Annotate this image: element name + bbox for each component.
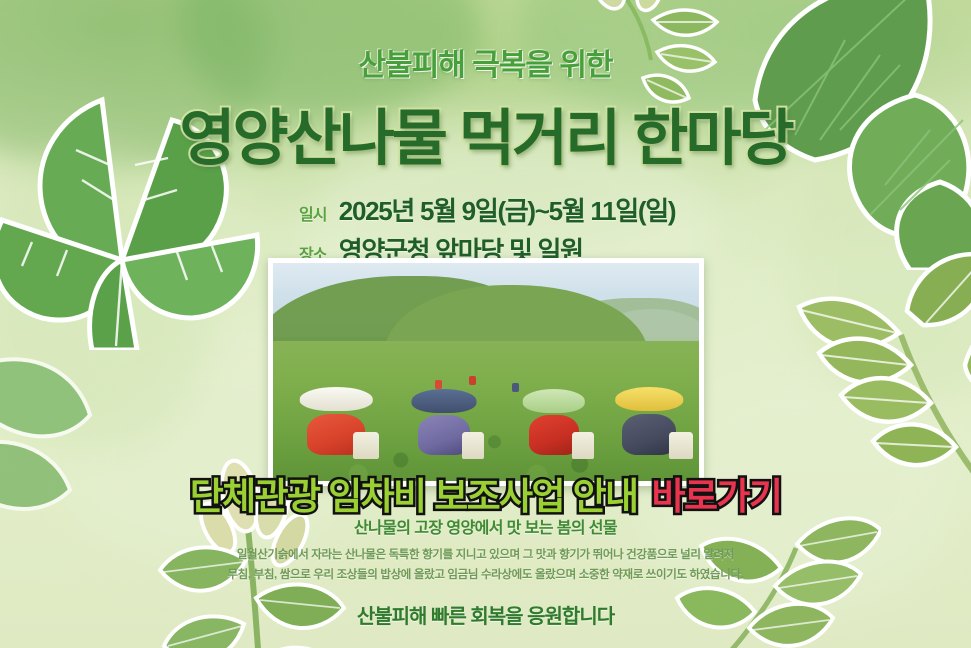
info-label-date: 일시	[296, 201, 330, 225]
event-info-block: 일시 2025년 5월 9일(금)~5월 11일(일) 장소 영양군청 앞마당 …	[296, 191, 675, 268]
photo-image	[273, 263, 699, 481]
info-row-date: 일시 2025년 5월 9일(금)~5월 11일(일)	[296, 191, 675, 228]
event-poster: 산불피해 극복을 위한 영양산나물 먹거리 한마당 일시 2025년 5월 9일…	[0, 0, 971, 648]
photo-harvester	[307, 387, 365, 455]
photo-harvester	[418, 389, 470, 455]
promo-banner[interactable]: 단체관광 임차비 보조사업 안내바로가기	[0, 478, 971, 515]
description-line-2: 무침, 부침, 쌈으로 우리 조상들의 밥상에 올랐고 임금님 수라상에도 올랐…	[0, 565, 971, 585]
photo-harvester	[529, 389, 579, 455]
photo-distant-person	[512, 383, 519, 392]
poster-tagline: 산나물의 고장 영양에서 맛 보는 봄의 선물	[0, 514, 971, 538]
info-value-date: 2025년 5월 9일(금)~5월 11일(일)	[339, 191, 675, 228]
poster-description: 일월산기슭에서 자라는 산나물은 독특한 향기를 지니고 있으며 그 맛과 향기…	[0, 545, 971, 585]
poster-closing-message: 산불피해 빠른 회복을 응원합니다	[0, 600, 971, 629]
poster-subtitle: 산불피해 극복을 위한	[358, 40, 612, 84]
promo-banner-link[interactable]: 바로가기	[652, 476, 782, 517]
photo-distant-person	[469, 376, 476, 385]
page-title: 영양산나물 먹거리 한마당	[179, 88, 791, 177]
photo-harvester	[622, 387, 676, 455]
description-line-1: 일월산기슭에서 자라는 산나물은 독특한 향기를 지니고 있으며 그 맛과 향기…	[0, 545, 971, 565]
promo-banner-text: 단체관광 임차비 보조사업 안내	[190, 476, 638, 517]
event-photo	[268, 258, 704, 486]
